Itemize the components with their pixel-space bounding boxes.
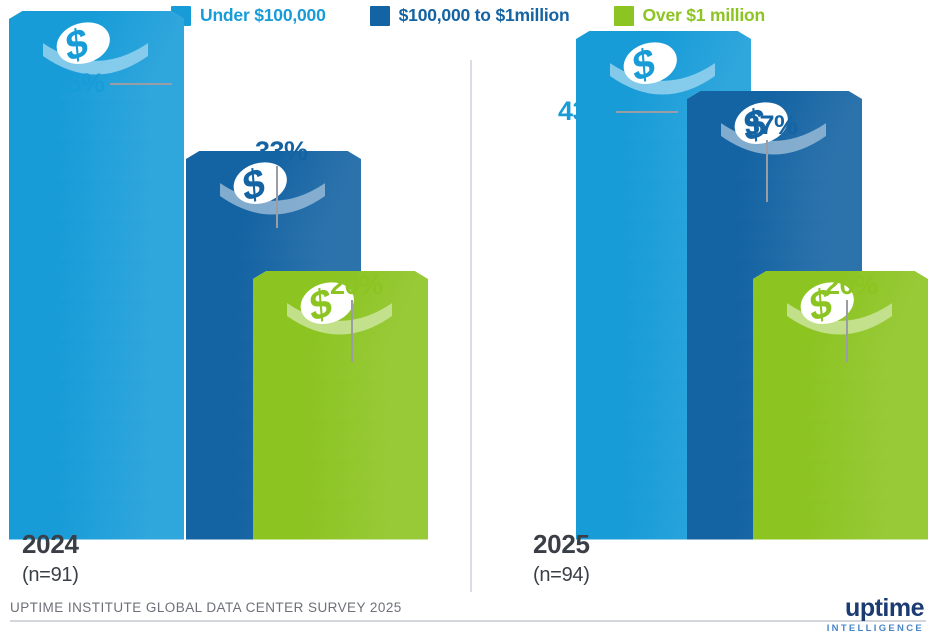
uptime-intelligence-logo: uptime INTELLIGENCE xyxy=(827,596,924,634)
leader-line-2024-over-1m xyxy=(351,300,353,362)
group-label-2025: 2025 (n=94) xyxy=(533,530,590,587)
stack-2025-over-1m: $ xyxy=(752,271,929,600)
legend-label-100k-1m: $100,000 to $1million xyxy=(399,7,570,25)
leader-line-2024-under-100k xyxy=(110,83,172,85)
group-year-2024: 2024 xyxy=(22,530,79,560)
legend-item-100k-1m: $100,000 to $1million xyxy=(370,6,570,26)
value-label-2025-100k-1m: 37% xyxy=(745,110,798,140)
footer-divider xyxy=(10,620,926,622)
legend-label-under-100k: Under $100,000 xyxy=(200,7,326,25)
infographic-chart: Under $100,000 $100,000 to $1million Ove… xyxy=(0,0,936,639)
stack-2024-over-1m: $ xyxy=(252,271,429,600)
logo-subtitle: INTELLIGENCE xyxy=(827,624,924,634)
legend-item-under-100k: Under $100,000 xyxy=(171,6,326,26)
callout-2025-100k-1m: 37% xyxy=(745,112,798,139)
stack-2024-under-100k: $ xyxy=(8,11,185,600)
group-label-2024: 2024 (n=91) xyxy=(22,530,79,587)
value-label-2025-over-1m: 20% xyxy=(825,270,878,300)
group-year-2025: 2025 xyxy=(533,530,590,560)
legend-swatch-100k-1m xyxy=(370,6,390,26)
value-label-2025-under-100k: 43% xyxy=(558,96,611,126)
leader-line-2025-over-1m xyxy=(846,300,848,362)
callout-2024-under-100k: 46% xyxy=(52,70,105,97)
legend-label-over-1m: Over $1 million xyxy=(643,7,765,25)
callout-2024-over-1m: 20% xyxy=(330,272,383,299)
leader-line-2025-under-100k xyxy=(616,111,678,113)
legend-swatch-over-1m xyxy=(614,6,634,26)
leader-line-2024-100k-1m xyxy=(276,166,278,228)
legend-item-over-1m: Over $1 million xyxy=(614,6,765,26)
group-n-2024: (n=91) xyxy=(22,564,79,587)
value-label-2024-over-1m: 20% xyxy=(330,270,383,300)
source-caption: UPTIME INSTITUTE GLOBAL DATA CENTER SURV… xyxy=(10,600,402,615)
leader-line-2025-100k-1m xyxy=(766,140,768,202)
callout-2024-100k-1m: 33% xyxy=(255,138,308,165)
callout-2025-over-1m: 20% xyxy=(825,272,878,299)
svg-text:$: $ xyxy=(64,18,90,71)
group-divider xyxy=(470,60,472,592)
value-label-2024-under-100k: 46% xyxy=(52,68,105,98)
value-label-2024-100k-1m: 33% xyxy=(255,136,308,166)
svg-text:$: $ xyxy=(631,38,657,91)
group-n-2025: (n=94) xyxy=(533,564,590,587)
logo-wordmark: uptime xyxy=(827,596,924,621)
callout-2025-under-100k: 43% xyxy=(558,98,611,125)
